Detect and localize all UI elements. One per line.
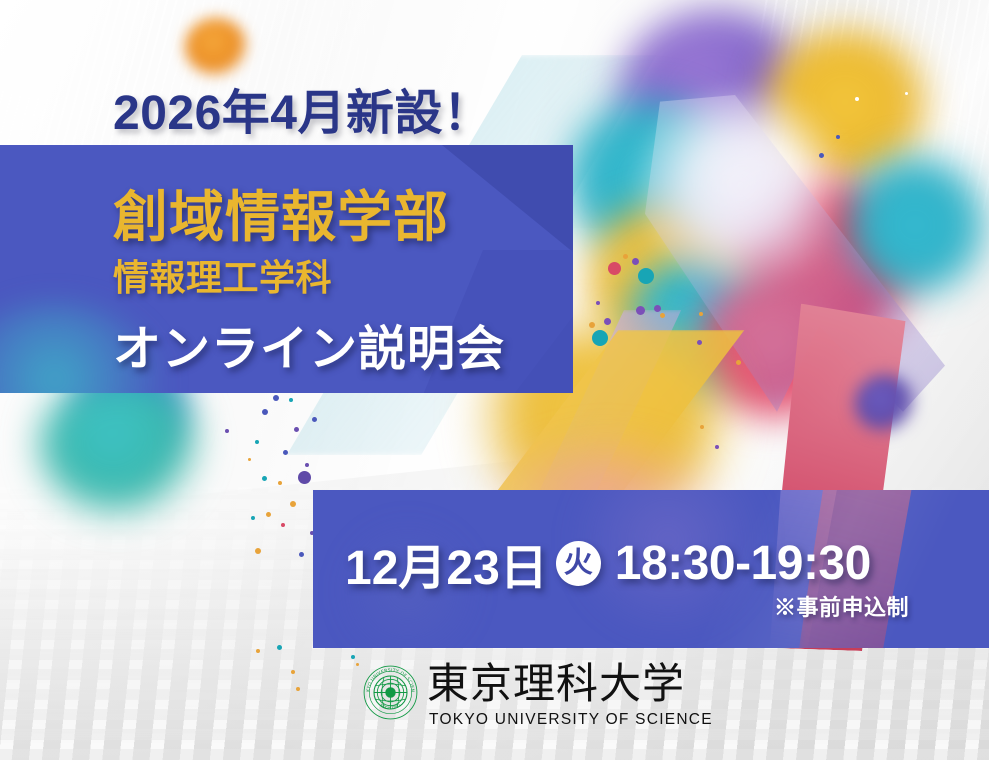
confetti-dot xyxy=(836,135,840,139)
confetti-dot xyxy=(277,645,282,650)
page-title: 2026年4月新設！ xyxy=(113,73,491,143)
confetti-dot xyxy=(351,655,355,659)
weekday-badge: 火 xyxy=(556,541,601,586)
pink-blob-bottom xyxy=(690,270,860,420)
confetti-dot xyxy=(262,409,268,415)
confetti-dot xyxy=(255,440,259,444)
confetti-dot xyxy=(291,670,295,674)
university-logo: TOKYO UNIVERSITY OF SCIENCE since 1881 東… xyxy=(363,662,713,729)
confetti-dot xyxy=(623,254,628,259)
confetti-dot xyxy=(654,305,661,312)
confetti-dot xyxy=(632,258,639,265)
confetti-dot xyxy=(278,481,282,485)
confetti-dot xyxy=(638,268,654,284)
confetti-dot xyxy=(255,548,261,554)
confetti-dot xyxy=(700,425,704,429)
confetti-dot xyxy=(294,427,299,432)
confetti-dot xyxy=(589,322,595,328)
registration-note: ※事前申込制 xyxy=(774,590,909,622)
confetti-dot xyxy=(299,552,304,557)
logo-text-block: 東京理科大学 TOKYO UNIVERSITY OF SCIENCE xyxy=(427,662,713,729)
confetti-dot xyxy=(312,417,317,422)
confetti-dot xyxy=(262,476,267,481)
confetti-dot xyxy=(697,340,702,345)
confetti-dot xyxy=(604,318,611,325)
confetti-dot xyxy=(715,445,719,449)
confetti-dot xyxy=(855,97,859,101)
confetti-dot xyxy=(290,501,296,507)
event-time: 18:30-19:30 xyxy=(615,536,871,591)
confetti-dot xyxy=(296,687,300,691)
teal-blob-left xyxy=(560,95,740,265)
event-datetime: 12月23日 火 18:30-19:30 xyxy=(345,528,871,598)
confetti-dot xyxy=(256,649,260,653)
confetti-dot xyxy=(736,360,741,365)
confetti-dot xyxy=(248,458,251,461)
confetti-dot xyxy=(636,306,645,315)
purple-accent-blob-right xyxy=(855,375,915,433)
confetti-dot xyxy=(283,450,288,455)
confetti-dot xyxy=(266,512,271,517)
confetti-dot xyxy=(298,471,311,484)
faculty-name: 創域情報学部 xyxy=(113,172,449,252)
confetti-dot xyxy=(273,395,279,401)
confetti-dot xyxy=(225,429,229,433)
confetti-dot xyxy=(251,516,255,520)
confetti-dot xyxy=(905,92,908,95)
confetti-dot xyxy=(356,663,359,666)
confetti-dot xyxy=(289,398,293,402)
confetti-dot xyxy=(819,153,824,158)
event-date: 12月23日 xyxy=(345,528,548,598)
diagonal-hatch-texture-top-right xyxy=(759,0,989,210)
confetti-dot xyxy=(596,301,600,305)
confetti-dot xyxy=(592,330,608,346)
globe-emblem-icon: TOKYO UNIVERSITY OF SCIENCE since 1881 xyxy=(363,665,418,720)
weekday-badge-label: 火 xyxy=(564,549,593,578)
confetti-dot xyxy=(281,523,285,527)
confetti-dot xyxy=(305,463,309,467)
department-name: 情報理工学科 xyxy=(113,249,332,301)
logo-name-english: TOKYO UNIVERSITY OF SCIENCE xyxy=(429,711,713,729)
confetti-dot xyxy=(699,312,703,316)
confetti-dot xyxy=(608,262,621,275)
confetti-dot xyxy=(660,313,665,318)
event-name: オンライン説明会 xyxy=(113,309,505,379)
promo-banner: 2026年4月新設！ 創域情報学部 情報理工学科 オンライン説明会 12月23日… xyxy=(0,0,989,760)
logo-name-japanese: 東京理科大学 xyxy=(427,662,713,707)
